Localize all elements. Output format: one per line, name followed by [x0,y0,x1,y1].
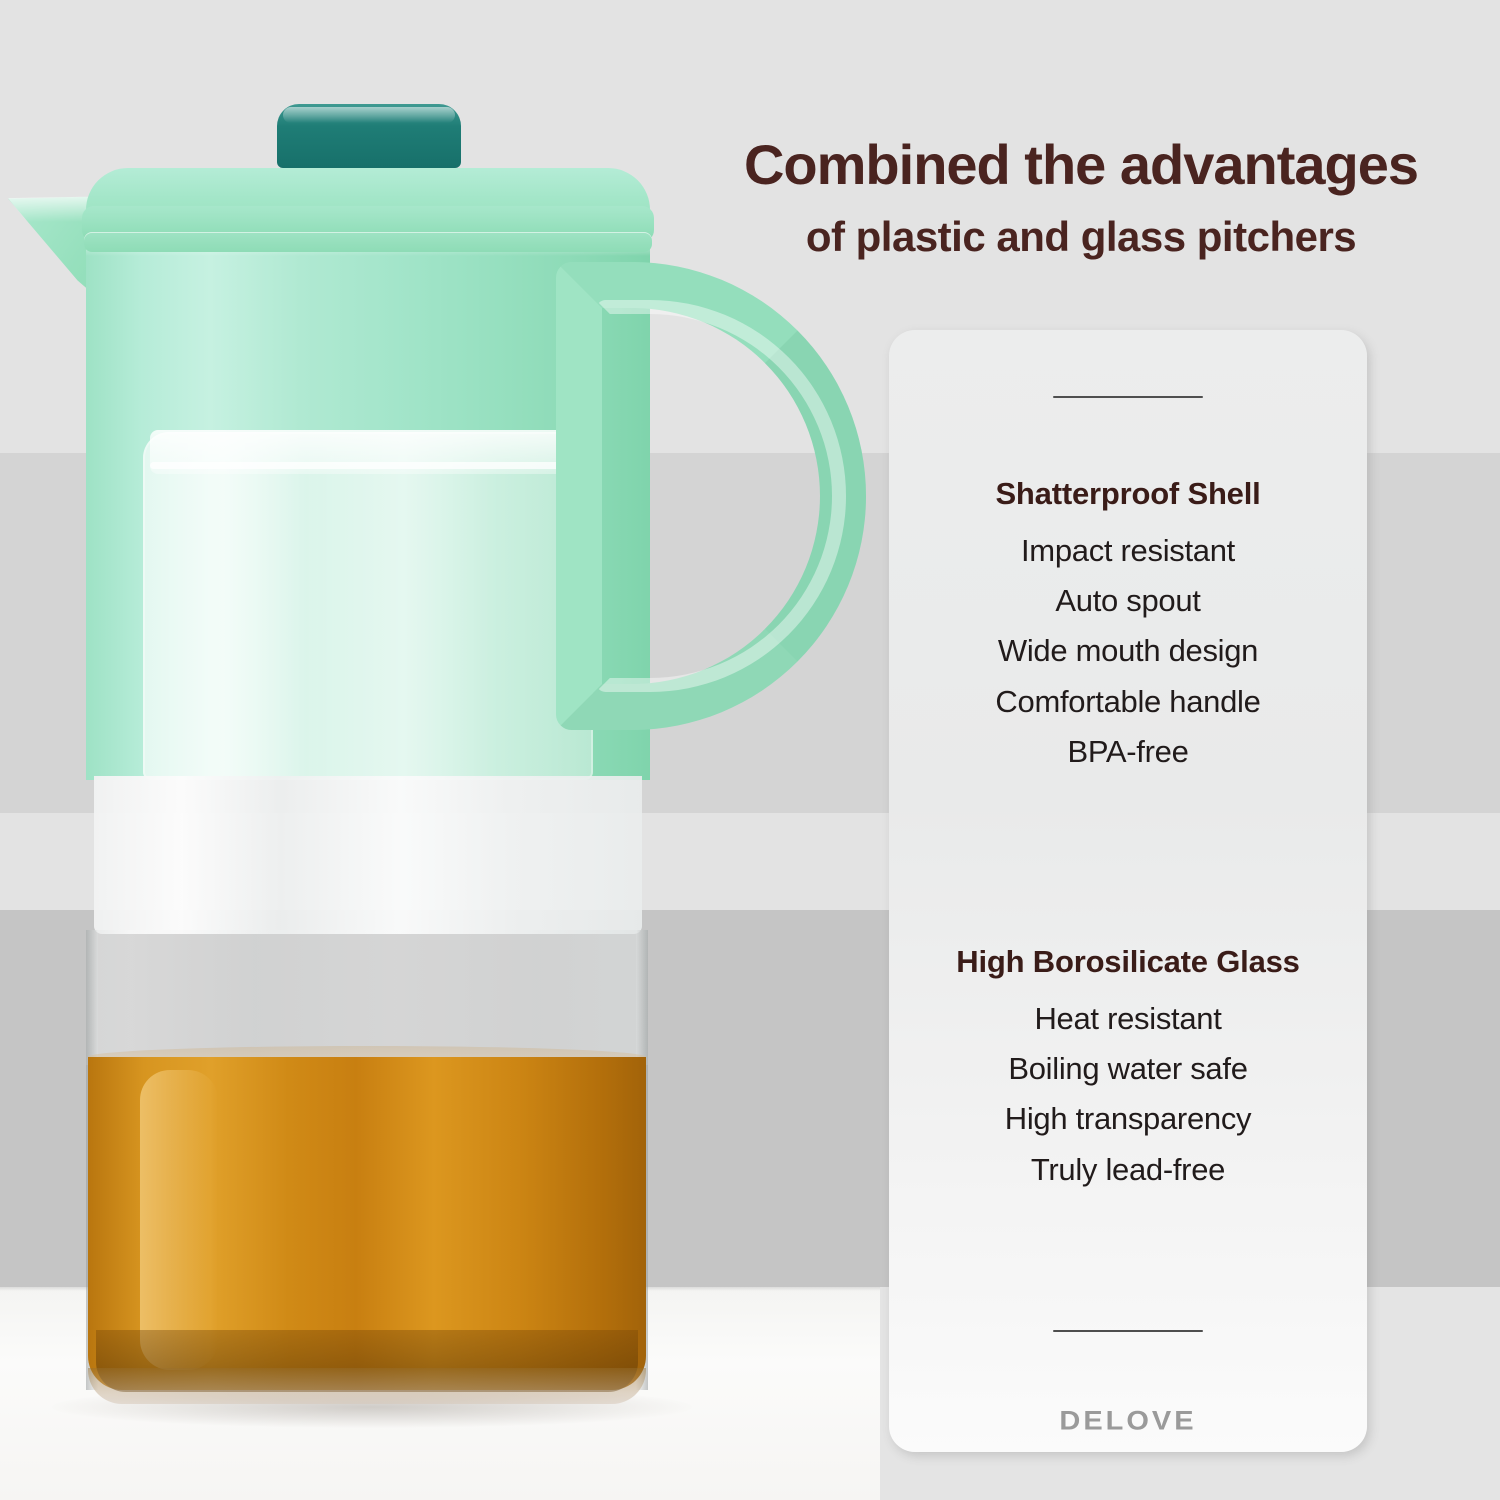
lid-rim-lower [84,232,652,252]
inner-glass-jar [143,432,593,780]
liquid-highlight [140,1070,218,1370]
frosted-glass-section [94,776,642,934]
lid-knob-highlight [283,107,455,123]
divider-bottom [1053,1330,1203,1332]
brand-logo: DELOVE [889,1406,1367,1436]
inner-glass-jar-ring [150,462,586,469]
feature-block-high-borosilicate-glass: High Borosilicate Glass Heat resistant B… [889,944,1367,1195]
feature-line: Comfortable handle [889,677,1367,727]
feature-line: Impact resistant [889,526,1367,576]
feature-line: High transparency [889,1094,1367,1144]
feature-block-shatterproof-shell: Shatterproof Shell Impact resistant Auto… [889,476,1367,777]
feature-card: Shatterproof Shell Impact resistant Auto… [889,330,1367,1452]
feature-line: Boiling water safe [889,1044,1367,1094]
glass-base [88,1368,646,1404]
divider-top [1053,396,1203,398]
clear-glass-section [86,930,648,1065]
feature-line: Auto spout [889,576,1367,626]
headline-line-1: Combined the advantages [676,134,1486,197]
headline-line-2: of plastic and glass pitchers [676,213,1486,261]
scene: Combined the advantages of plastic and g… [0,0,1500,1500]
feature-line: BPA-free [889,727,1367,777]
feature-title: High Borosilicate Glass [889,944,1367,980]
headline: Combined the advantages of plastic and g… [676,134,1486,261]
feature-title: Shatterproof Shell [889,476,1367,512]
feature-line: Wide mouth design [889,626,1367,676]
feature-line: Truly lead-free [889,1145,1367,1195]
feature-line: Heat resistant [889,994,1367,1044]
